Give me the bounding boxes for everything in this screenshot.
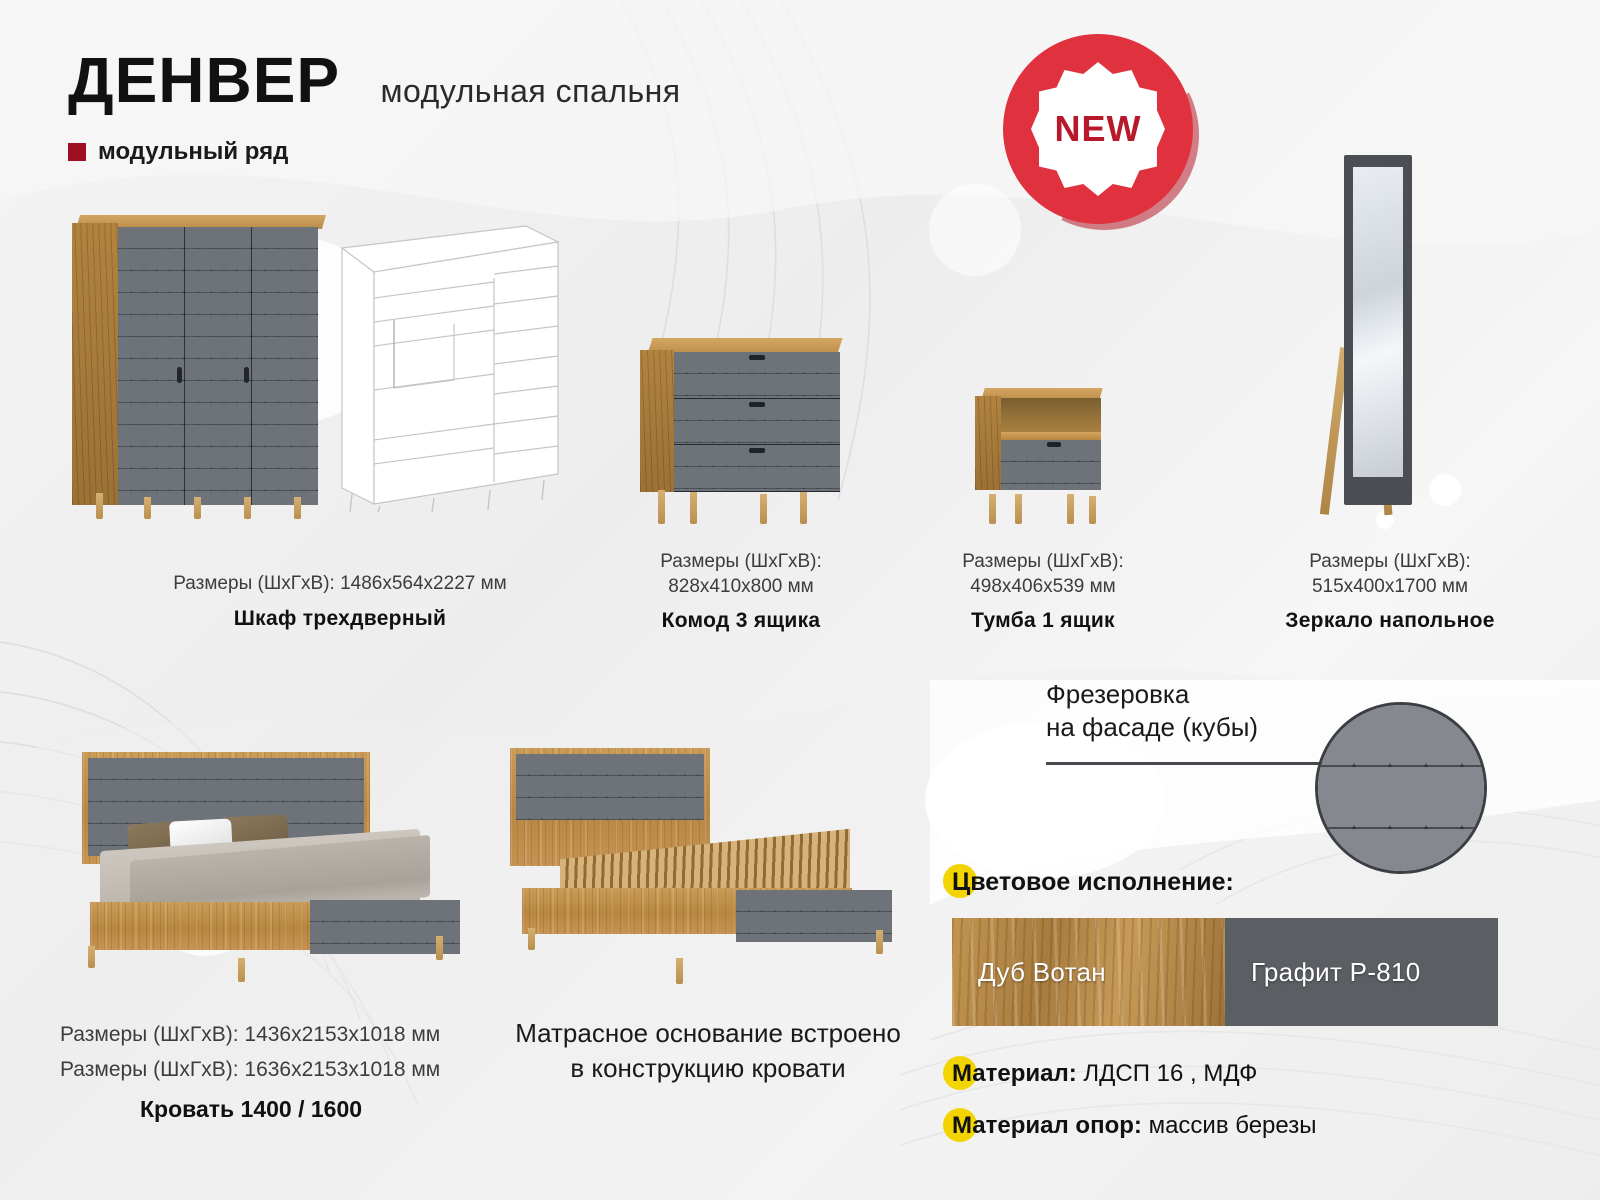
leg-icon [96, 493, 103, 519]
dresser-drawers [674, 352, 840, 492]
catalog-page: ДЕНВЕР модульная спальня модульный ряд N… [0, 0, 1600, 1200]
handle-icon [244, 367, 249, 383]
milling-label: Фрезеровка на фасаде (кубы) [1046, 678, 1258, 743]
drawer-front [674, 445, 840, 492]
tagline: модульный ряд [68, 138, 681, 166]
product-name: Шкаф трехдверный [60, 607, 620, 631]
headboard-panel [516, 754, 704, 820]
product-caption-wardrobe: Размеры (ШхГхВ): 1486x564x2227 мм Шкаф т… [60, 572, 620, 631]
product-image-wardrobe [72, 207, 324, 519]
nightstand-shelf [1001, 432, 1101, 440]
leg-icon [244, 497, 251, 519]
product-image-dresser [640, 338, 840, 524]
milling-detail-circle [1315, 702, 1487, 874]
leg-icon [1015, 494, 1022, 524]
milling-leader-line [1046, 762, 1346, 765]
nightstand-open-shelf [1001, 398, 1101, 432]
wardrobe-schematic-drawing [330, 212, 562, 512]
leg-icon [760, 494, 767, 524]
drawer-front [674, 352, 840, 399]
material-row: Материал: ЛДСП 16 , МДФ [952, 1060, 1257, 1088]
product-image-nightstand [975, 388, 1101, 524]
colors-heading: Цветовое исполнение: [952, 868, 1234, 897]
cube-pattern-swatch [1318, 705, 1484, 871]
product-caption-nightstand: Размеры (ШхГхВ): 498x406x539 мм Тумба 1 … [922, 550, 1164, 633]
leg-icon [1067, 494, 1074, 524]
leg-icon [876, 930, 883, 954]
handle-icon [177, 367, 182, 383]
wardrobe-door [118, 227, 185, 505]
leg-icon [690, 492, 697, 524]
wardrobe-door [252, 227, 318, 505]
drawer-front [674, 399, 840, 446]
nightstand-side-panel [975, 396, 1001, 490]
leg-icon [676, 958, 683, 984]
wardrobe-door [185, 227, 252, 505]
wardrobe-side-panel [72, 223, 118, 505]
page-title: ДЕНВЕР [68, 48, 340, 112]
mirror-glass [1353, 167, 1403, 477]
new-badge: NEW [1003, 34, 1199, 230]
bed-name: Кровать 1400 / 1600 [140, 1096, 362, 1123]
leg-icon [238, 958, 245, 982]
swatch-oak: Дуб Вотан [952, 918, 1225, 1026]
product-image-bed-frame [500, 748, 900, 984]
product-image-bed-made [70, 752, 460, 982]
wardrobe-doors [118, 227, 318, 505]
swatch-label: Графит Р-810 [1225, 957, 1421, 988]
leg-icon [194, 497, 201, 519]
leg-icon [989, 494, 996, 524]
bed-dimensions-1600: Размеры (ШхГхВ): 1636x2153x1018 мм [60, 1053, 440, 1088]
material-value: ЛДСП 16 , МДФ [1083, 1060, 1257, 1087]
product-dimensions: Размеры (ШхГхВ): 498x406x539 мм [922, 550, 1164, 599]
swatch-graphite: Графит Р-810 [1225, 918, 1498, 1026]
bed-dimensions-block: Размеры (ШхГхВ): 1436x2153x1018 мм Разме… [60, 1018, 440, 1087]
dresser-side-panel [640, 350, 674, 492]
leg-icon [800, 492, 807, 524]
handle-icon [749, 355, 765, 360]
leg-icon [436, 936, 443, 960]
square-bullet-icon [68, 143, 86, 161]
handle-icon [1047, 442, 1061, 447]
bed-dimensions-1400: Размеры (ШхГхВ): 1436x2153x1018 мм [60, 1018, 440, 1053]
product-name: Зеркало напольное [1240, 609, 1540, 633]
tagline-label: модульный ряд [98, 138, 288, 166]
product-dimensions: Размеры (ШхГхВ): 1486x564x2227 мм [60, 572, 620, 597]
product-caption-dresser: Размеры (ШхГхВ): 828x410x800 мм Комод 3 … [620, 550, 862, 633]
page-subtitle: модульная спальня [381, 73, 681, 110]
leg-icon [294, 497, 301, 519]
leg-icon [528, 928, 535, 950]
product-image-mirror [1330, 155, 1414, 520]
drawer-front [1001, 440, 1101, 490]
product-dimensions: Размеры (ШхГхВ): 515x400x1700 мм [1240, 550, 1540, 599]
product-dimensions: Размеры (ШхГхВ): 828x410x800 мм [620, 550, 862, 599]
material-value: массив березы [1149, 1112, 1317, 1139]
material-label: Материал: [952, 1060, 1077, 1087]
mirror-frame [1344, 155, 1412, 505]
product-caption-mirror: Размеры (ШхГхВ): 515x400x1700 мм Зеркало… [1240, 550, 1540, 633]
schematic-svg [330, 212, 562, 512]
leg-icon [658, 490, 665, 524]
product-name: Тумба 1 ящик [922, 609, 1164, 633]
page-title-block: ДЕНВЕР модульная спальня модульный ряд [68, 48, 681, 166]
mattress-base-note: Матрасное основание встроено в конструкц… [478, 1016, 938, 1086]
leg-icon [88, 946, 95, 968]
leg-icon [144, 497, 151, 519]
color-swatches: Дуб Вотан Графит Р-810 [952, 918, 1498, 1026]
handle-icon [749, 402, 765, 407]
material-label: Материал опор: [952, 1112, 1142, 1139]
swatch-label: Дуб Вотан [952, 957, 1106, 988]
product-name: Комод 3 ящика [620, 609, 862, 633]
bed-footboard [736, 890, 892, 942]
leg-icon [1089, 496, 1096, 524]
material-row: Материал опор: массив березы [952, 1112, 1316, 1140]
handle-icon [749, 448, 765, 453]
colors-heading-label: Цветовое исполнение: [952, 868, 1234, 896]
badge-label: NEW [1055, 108, 1142, 150]
